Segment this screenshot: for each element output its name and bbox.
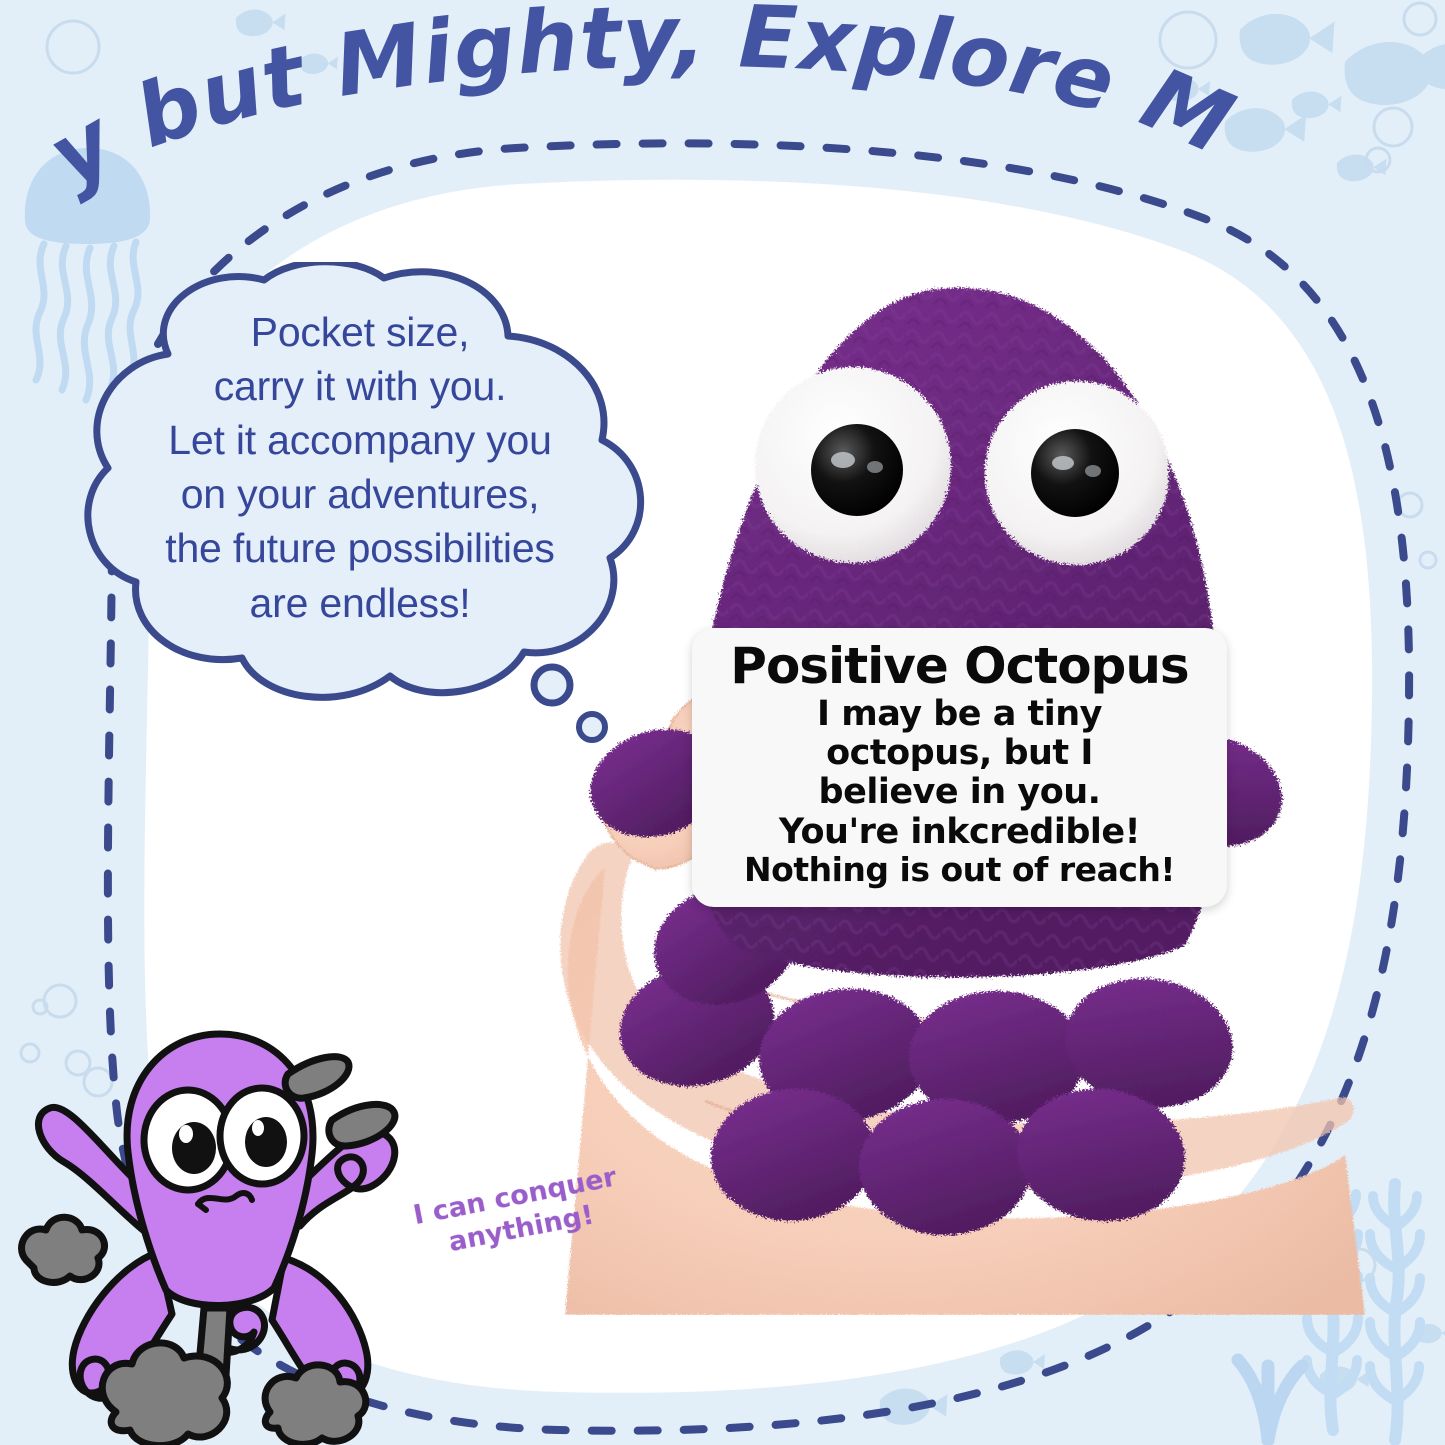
thought-line-3: Let it accompany you [60, 413, 660, 467]
thought-bubble-text: Pocket size, carry it with you. Let it a… [60, 305, 660, 630]
card-line-2: octopus, but I [708, 734, 1211, 773]
card-line-1: I may be a tiny [708, 695, 1211, 734]
card-line-3: believe in you. [708, 773, 1211, 812]
thought-line-1: Pocket size, [60, 305, 660, 359]
card-line-5: Nothing is out of reach! [708, 852, 1211, 889]
card-title: Positive Octopus [708, 640, 1211, 693]
plush-eye-left [755, 367, 951, 563]
thought-line-6: are endless! [60, 576, 660, 630]
thought-line-5: the future possibilities [60, 521, 660, 575]
thought-trail-circles [520, 655, 630, 755]
plush-eye-right [985, 381, 1169, 565]
thought-line-2: carry it with you. [60, 359, 660, 413]
cartoon-octopus-mascot [12, 1020, 432, 1445]
product-info-card: Positive Octopus I may be a tiny octopus… [692, 628, 1227, 907]
poster-canvas: Tiny but Mighty, Explore More! [0, 0, 1445, 1445]
page-headline: Tiny but Mighty, Explore More! [0, 0, 1445, 230]
thought-line-4: on your adventures, [60, 467, 660, 521]
headline-text: Tiny but Mighty, Explore More! [0, 0, 1247, 207]
card-line-4: You're inkcredible! [708, 813, 1211, 852]
